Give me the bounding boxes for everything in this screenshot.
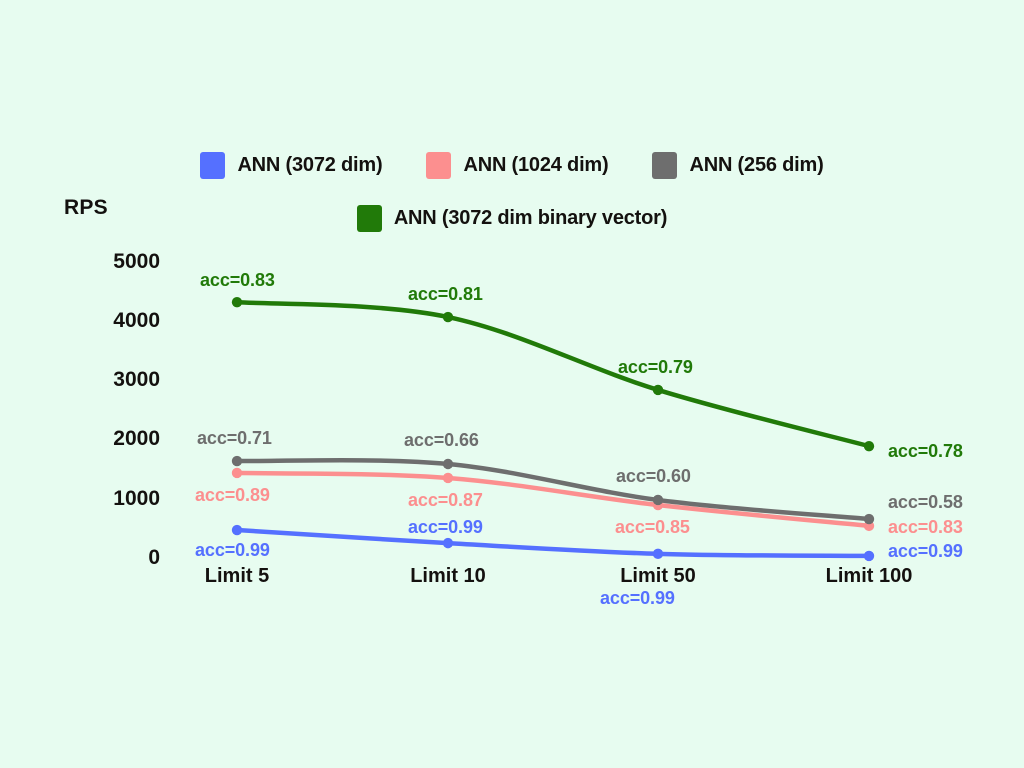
acc-label-blue-limit-50: acc=0.99	[600, 588, 675, 609]
data-point-gray-0[interactable]	[232, 456, 242, 466]
acc-label-gray-limit-50: acc=0.60	[616, 466, 691, 487]
data-point-red-1[interactable]	[443, 473, 453, 483]
data-point-green-2[interactable]	[653, 385, 663, 395]
acc-label-red-limit-100: acc=0.83	[888, 517, 963, 538]
data-point-blue-3[interactable]	[864, 551, 874, 561]
plot-area	[0, 0, 1024, 768]
data-point-blue-1[interactable]	[443, 538, 453, 548]
acc-label-blue-limit-10: acc=0.99	[408, 517, 483, 538]
data-point-blue-2[interactable]	[653, 549, 663, 559]
data-point-gray-1[interactable]	[443, 459, 453, 469]
data-point-gray-2[interactable]	[653, 495, 663, 505]
data-point-green-1[interactable]	[443, 312, 453, 322]
data-point-green-3[interactable]	[864, 441, 874, 451]
acc-label-gray-limit-5: acc=0.71	[197, 428, 272, 449]
data-point-green-0[interactable]	[232, 297, 242, 307]
plot-svg	[0, 0, 1024, 768]
series-line-green	[237, 302, 869, 446]
series-layer	[232, 297, 874, 561]
acc-label-blue-limit-5: acc=0.99	[195, 540, 270, 561]
acc-label-green-limit-10: acc=0.81	[408, 284, 483, 305]
acc-label-red-limit-50: acc=0.85	[615, 517, 690, 538]
acc-label-blue-limit-100: acc=0.99	[888, 541, 963, 562]
acc-label-red-limit-10: acc=0.87	[408, 490, 483, 511]
acc-label-green-limit-5: acc=0.83	[200, 270, 275, 291]
acc-label-gray-limit-100: acc=0.58	[888, 492, 963, 513]
acc-label-green-limit-100: acc=0.78	[888, 441, 963, 462]
data-point-blue-0[interactable]	[232, 525, 242, 535]
data-point-gray-3[interactable]	[864, 514, 874, 524]
data-point-red-0[interactable]	[232, 468, 242, 478]
chart-container: ANN (3072 dim) ANN (1024 dim) ANN (256 d…	[0, 0, 1024, 768]
acc-label-gray-limit-10: acc=0.66	[404, 430, 479, 451]
acc-label-green-limit-50: acc=0.79	[618, 357, 693, 378]
acc-label-red-limit-5: acc=0.89	[195, 485, 270, 506]
series-line-blue	[237, 530, 869, 556]
